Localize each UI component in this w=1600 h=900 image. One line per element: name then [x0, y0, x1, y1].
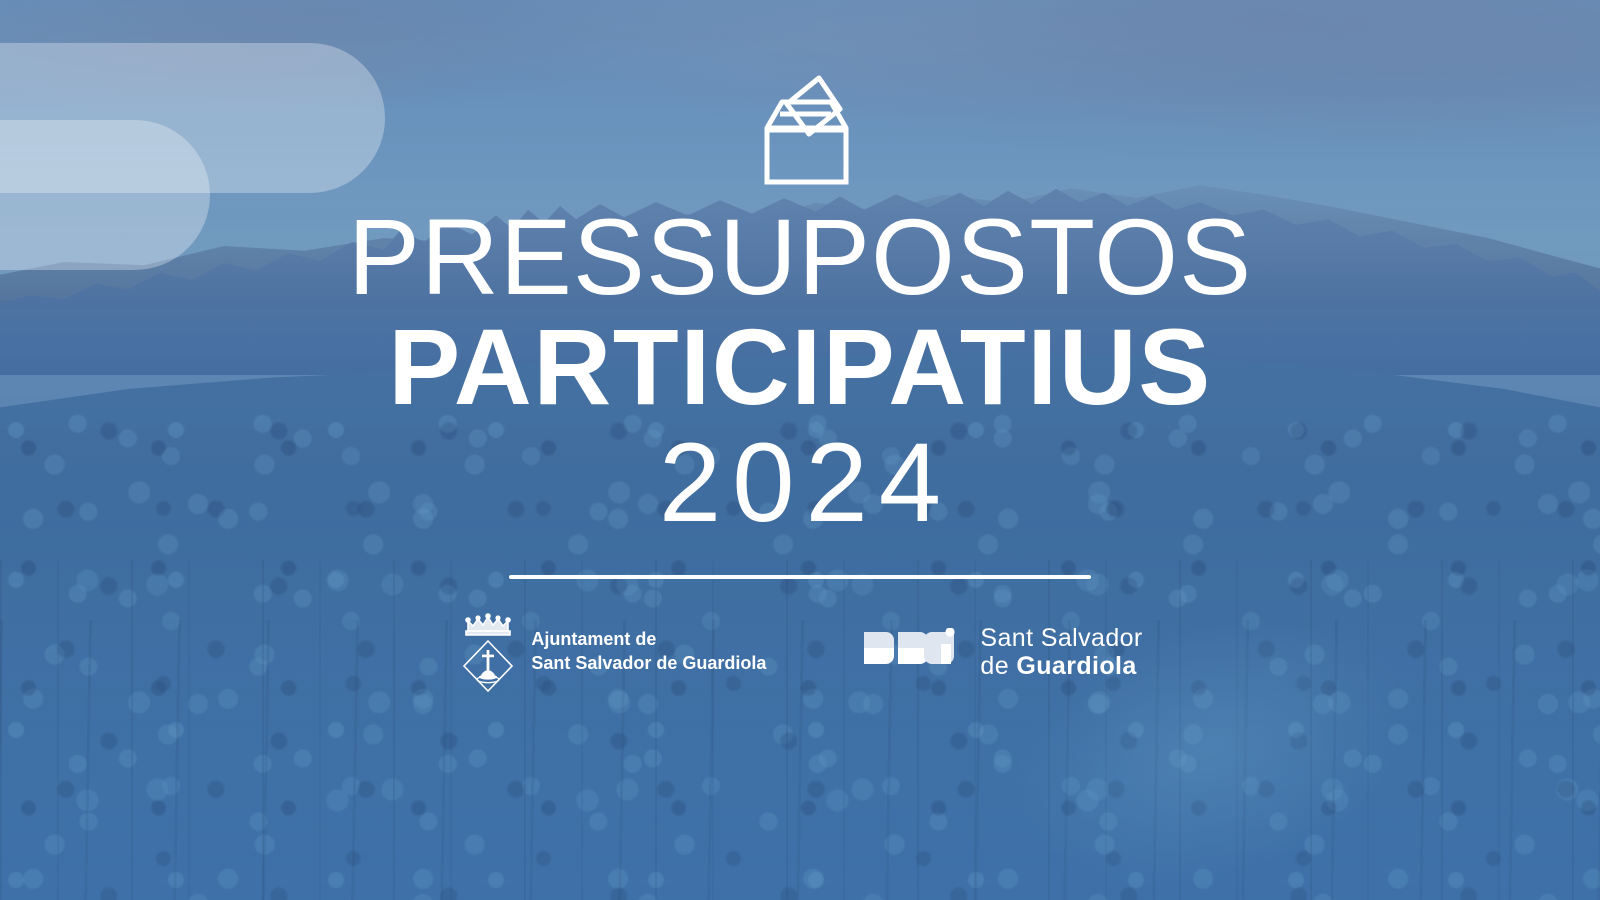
headline-block: PRESSUPOSTOS PARTICIPATIUS 2024 [348, 206, 1252, 539]
ajuntament-line-1: Ajuntament de [531, 628, 766, 652]
ajuntament-logo: Ajuntament de Sant Salvador de Guardiola [457, 611, 766, 693]
ssg-line-2-light: de [980, 652, 1016, 680]
ssg-line-2-bold: Guardiola [1016, 652, 1136, 680]
crown-and-diamond-crest-icon [457, 611, 519, 693]
horizontal-divider [509, 575, 1091, 579]
poster-canvas: PRESSUPOSTOS PARTICIPATIUS 2024 [0, 0, 1600, 900]
ballot-box-icon [745, 62, 855, 192]
logos-row: Ajuntament de Sant Salvador de Guardiola [457, 611, 1142, 693]
ssg-logo-text: Sant Salvador de Guardiola [980, 624, 1142, 680]
ssg-logo: Sant Salvador de Guardiola [862, 624, 1142, 680]
ssg-monogram-icon [862, 628, 966, 676]
poster-content: PRESSUPOSTOS PARTICIPATIUS 2024 [0, 0, 1600, 900]
ajuntament-line-2: Sant Salvador de Guardiola [531, 652, 766, 676]
title-line-2: PARTICIPATIUS [348, 313, 1252, 421]
ssg-line-1: Sant Salvador [980, 624, 1142, 652]
title-line-1: PRESSUPOSTOS [348, 206, 1252, 309]
title-line-3-year: 2024 [348, 427, 1252, 539]
ssg-line-2: de Guardiola [980, 652, 1142, 680]
ajuntament-logo-text: Ajuntament de Sant Salvador de Guardiola [531, 628, 766, 676]
